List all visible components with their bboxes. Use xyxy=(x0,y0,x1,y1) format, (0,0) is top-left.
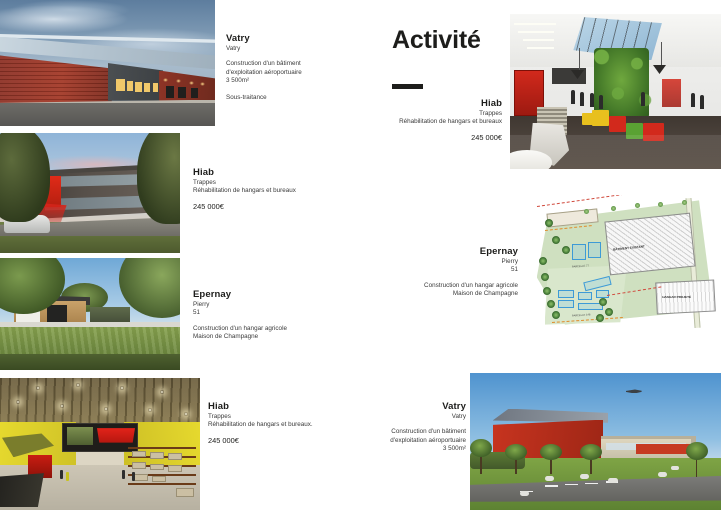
project-desc-line-2: d'exploitation aéroportuaire xyxy=(340,437,466,445)
render-vatry-airport-building xyxy=(470,373,721,510)
project-title: Epernay xyxy=(193,289,333,301)
project-desc-line-3: 3 500m² xyxy=(226,77,346,85)
project-caption-hiab-left: Hiab Trappes Réhabilitation de hangars e… xyxy=(193,167,333,212)
photo-vatry-exterior-dusk xyxy=(0,0,215,126)
project-desc-line-2: d'exploitation aéroportuaire xyxy=(226,69,346,77)
project-desc-line-3: 3 500m² xyxy=(340,445,466,453)
project-desc-line-1: Réhabilitation de hangars et bureaux xyxy=(330,118,502,126)
project-price: 245 000€ xyxy=(208,436,356,446)
project-title: Hiab xyxy=(193,167,333,179)
project-desc-line-2: Maison de Champagne xyxy=(193,333,333,341)
plan-label-projected-hangar: HANGAR PROJETÉ xyxy=(662,295,691,299)
project-location: Trappes xyxy=(193,179,333,187)
render-hiab-office-atrium-interior xyxy=(510,14,721,169)
project-desc-line-1: Réhabilitation de hangars et bureaux. xyxy=(208,421,356,429)
render-epernay-hangar-exterior xyxy=(0,258,180,370)
diagram-epernay-site-plan: BÂTIMENT EXISTANT PARCELLE 77 PARCELLE 1… xyxy=(525,195,721,330)
project-location: Vatry xyxy=(226,45,346,53)
page-title: Activité xyxy=(392,26,481,55)
project-desc-line-2: Maison de Champagne xyxy=(360,290,518,298)
project-location: Pierry xyxy=(193,301,333,309)
project-caption-epernay-left: Epernay Pierry 51 Construction d'un hang… xyxy=(193,289,333,342)
render-hiab-office-exterior xyxy=(0,133,180,253)
project-title: Hiab xyxy=(330,98,502,110)
project-desc-line-1: Construction d'un hangar agricole xyxy=(193,325,333,333)
project-price: 245 000€ xyxy=(193,202,333,212)
project-title: Hiab xyxy=(208,401,356,413)
project-location: Vatry xyxy=(340,413,466,421)
project-desc-line-1: Construction d'un hangar agricole xyxy=(360,282,518,290)
project-note: Sous-traitance xyxy=(226,94,346,102)
airplane-icon xyxy=(626,389,642,393)
title-underline-rule xyxy=(392,84,423,89)
project-desc-line-1: Réhabilitation de hangars et bureaux xyxy=(193,187,333,195)
project-title: Epernay xyxy=(360,246,518,258)
render-hiab-warehouse-interior xyxy=(0,378,200,510)
project-location: Pierry xyxy=(360,258,518,266)
project-caption-hiab-right: Hiab Trappes Réhabilitation de hangars e… xyxy=(330,98,502,143)
project-caption-vatry-top: Vatry Vatry Construction d'un bâtiment d… xyxy=(226,33,346,102)
project-location: Trappes xyxy=(208,413,356,421)
project-title: Vatry xyxy=(226,33,346,45)
project-caption-epernay-right: Epernay Pierry 51 Construction d'un hang… xyxy=(360,246,518,299)
project-department: 51 xyxy=(360,266,518,274)
presentation-slide: Activité xyxy=(0,0,721,510)
project-desc-line-1: Construction d'un bâtiment xyxy=(226,60,346,68)
project-desc-line-1: Construction d'un bâtiment xyxy=(340,428,466,436)
project-title: Vatry xyxy=(340,401,466,413)
project-caption-vatry-bottom: Vatry Vatry Construction d'un bâtiment d… xyxy=(340,401,466,454)
project-department: 51 xyxy=(193,309,333,317)
project-caption-hiab-bottom: Hiab Trappes Réhabilitation de hangars e… xyxy=(208,401,356,446)
project-location: Trappes xyxy=(330,110,502,118)
project-price: 245 000€ xyxy=(330,133,502,143)
